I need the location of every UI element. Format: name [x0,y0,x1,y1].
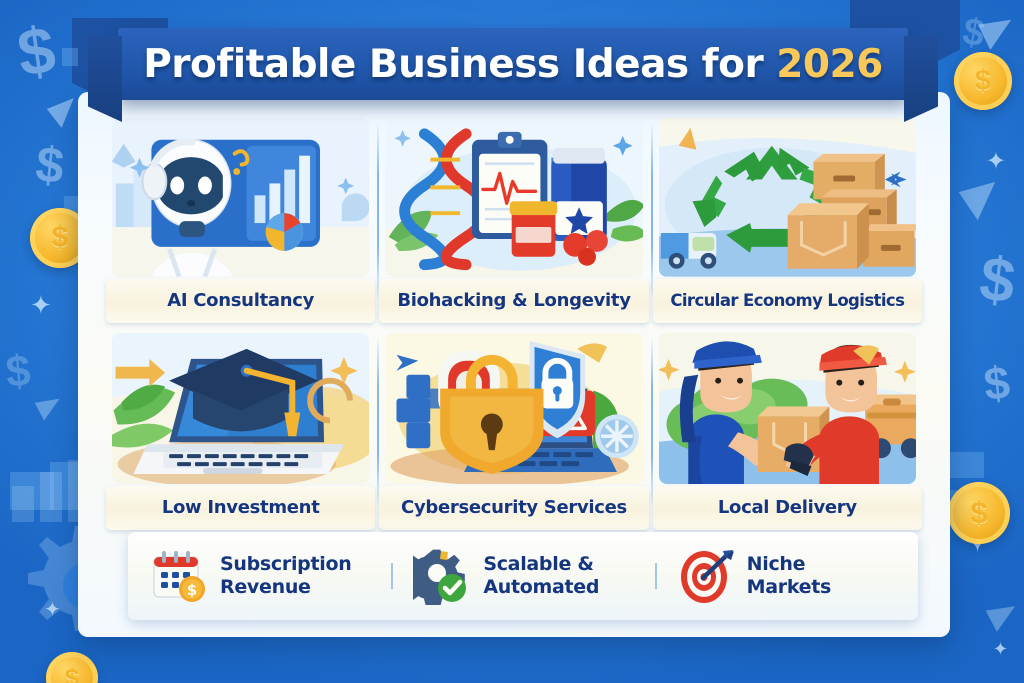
content-panel: AI Consultancy [78,92,950,637]
recycling-boxes-van-illustration [659,118,916,277]
benefit-label-line2: Revenue [220,576,351,599]
growth-arrow-icon [945,586,1024,654]
idea-card-label-band: Cybersecurity Services [379,486,648,530]
dollar-sign-decor: $ [976,248,1018,314]
biohacking-dna-supplements-illustration [385,118,642,277]
sparkle-decor: ✦ [965,528,990,558]
idea-card-local-delivery[interactable]: Local Delivery [651,329,924,536]
gear-check-icon [413,547,471,605]
idea-card-label-band: AI Consultancy [106,279,375,323]
card-divider [651,122,653,299]
idea-card-label: Circular Economy Logistics [670,291,904,310]
target-dart-icon [677,547,735,605]
gold-coin-icon: $ [954,52,1012,110]
benefit-label-line1: Scalable & [483,553,599,576]
benefit-subscription-revenue[interactable]: $ Subscription Revenue [128,547,391,605]
sparkle-decor: ✦ [30,292,52,318]
idea-card-label: Local Delivery [718,497,857,518]
ai-robot-dashboard-illustration [112,118,369,277]
idea-card-label: Biohacking & Longevity [397,290,630,311]
laptop-graduation-cap-illustration [112,333,369,484]
growth-arrow-icon [2,78,87,158]
title-main-text: Profitable Business Ideas for [143,42,776,87]
card-divider [377,337,379,506]
card-divider [377,122,379,299]
benefit-label-line2: Automated [483,576,599,599]
idea-card-label-band: Low Investment [106,486,375,530]
gold-coin-icon: $ [46,652,98,683]
sparkle-decor: ✦ [44,600,61,620]
cybersecurity-locks-shield-illustration [385,333,642,484]
benefit-label-line2: Markets [747,576,831,599]
idea-card-circular-economy-logistics[interactable]: Circular Economy Logistics [651,114,924,329]
title-ribbon: Profitable Business Ideas for 2026 [118,28,908,100]
benefit-divider [655,563,657,589]
chip-decor [10,472,54,510]
benefit-label: Scalable & Automated [483,553,599,599]
idea-card-label: Cybersecurity Services [401,497,627,518]
dollar-sign-decor: $ [960,12,987,53]
benefits-strip: $ Subscription Revenue [128,532,918,620]
idea-card-low-investment[interactable]: Low Investment [104,329,377,536]
sparkle-decor: ✦ [993,640,1008,658]
benefit-divider [391,563,393,589]
idea-card-label: AI Consultancy [167,290,314,311]
title-year-text: 2026 [776,42,883,87]
dollar-sign-decor: $ [33,139,66,192]
benefit-label-line1: Niche [747,553,831,576]
dollar-sign-decor: $ [982,359,1012,407]
idea-card-label: Low Investment [162,497,320,518]
idea-card-label-band: Circular Economy Logistics [653,279,922,323]
idea-card-label-band: Local Delivery [653,486,922,530]
sparkle-decor: ✦ [986,150,1006,174]
growth-arrow-icon [0,380,69,440]
chip-decor [62,48,78,66]
benefit-niche-markets[interactable]: Niche Markets [655,547,918,605]
growth-arrow-icon [923,0,1022,76]
idea-card-grid: AI Consultancy [104,114,924,516]
idea-card-label-band: Biohacking & Longevity [379,279,648,323]
infographic-canvas: $ $ $ $ $ $ [0,0,1024,683]
card-divider [651,337,653,506]
page-title: Profitable Business Ideas for 2026 [143,42,883,87]
dollar-sign-decor: $ [14,16,60,86]
idea-card-ai-consultancy[interactable]: AI Consultancy [104,114,377,329]
courier-handoff-illustration [659,333,916,484]
dollar-sign-decor: $ [4,349,32,395]
calendar-dollar-icon: $ [150,547,208,605]
idea-card-biohacking-longevity[interactable]: Biohacking & Longevity [377,114,650,329]
benefit-label: Niche Markets [747,553,831,599]
svg-text:$: $ [187,581,197,599]
idea-card-cybersecurity-services[interactable]: Cybersecurity Services [377,329,650,536]
benefit-label: Subscription Revenue [220,553,351,599]
benefit-scalable-automated[interactable]: Scalable & Automated [391,547,654,605]
benefit-label-line1: Subscription [220,553,351,576]
gold-coin-icon: $ [948,482,1010,544]
